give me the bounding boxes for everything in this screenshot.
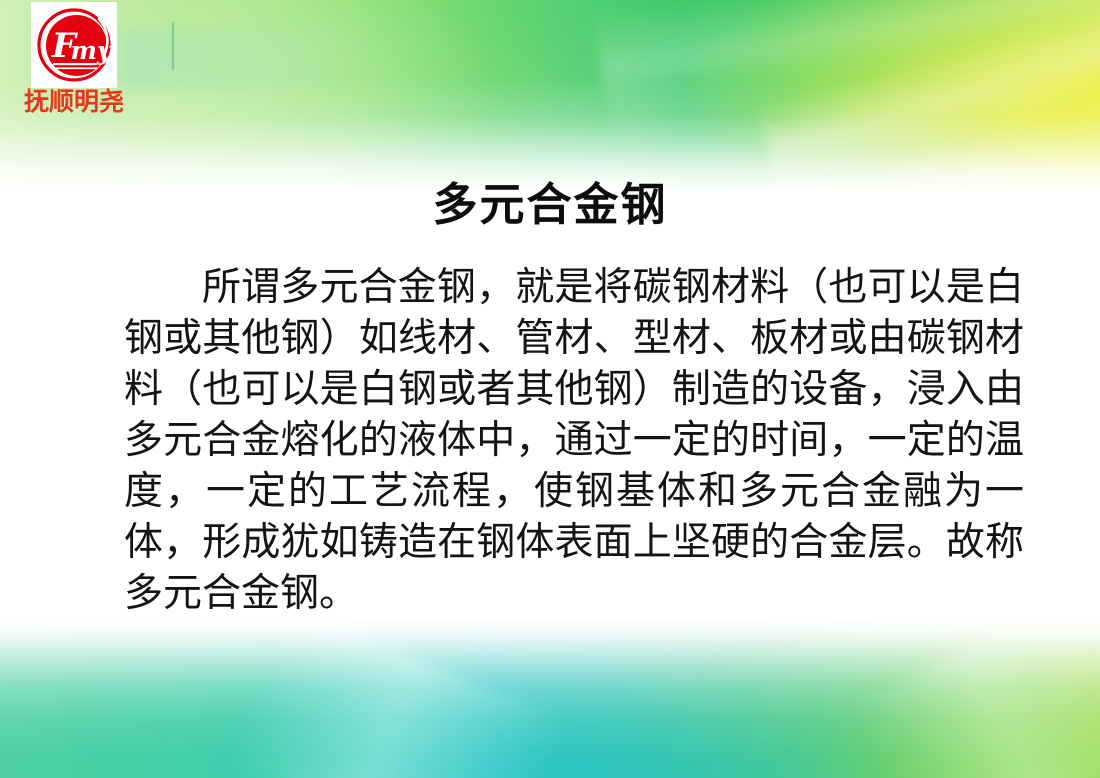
company-logo: F my 抚顺明尧 [14, 2, 134, 115]
slide-content: 多元合金钢 所谓多元合金钢，就是将碳钢材料（也可以是白钢或其他钢）如线材、管材、… [0, 0, 1100, 778]
slide-title: 多元合金钢 [0, 168, 1100, 233]
slide-body-paragraph: 所谓多元合金钢，就是将碳钢材料（也可以是白钢或其他钢）如线材、管材、型材、板材或… [124, 262, 1024, 619]
slide-canvas: F my 抚顺明尧 多元合金钢 所谓多元合金钢，就是将碳钢材料（也可以是白钢或其… [0, 0, 1100, 778]
svg-text:my: my [71, 36, 113, 65]
company-name-label: 抚顺明尧 [14, 89, 134, 115]
fmy-logo-icon: F my [31, 2, 117, 88]
